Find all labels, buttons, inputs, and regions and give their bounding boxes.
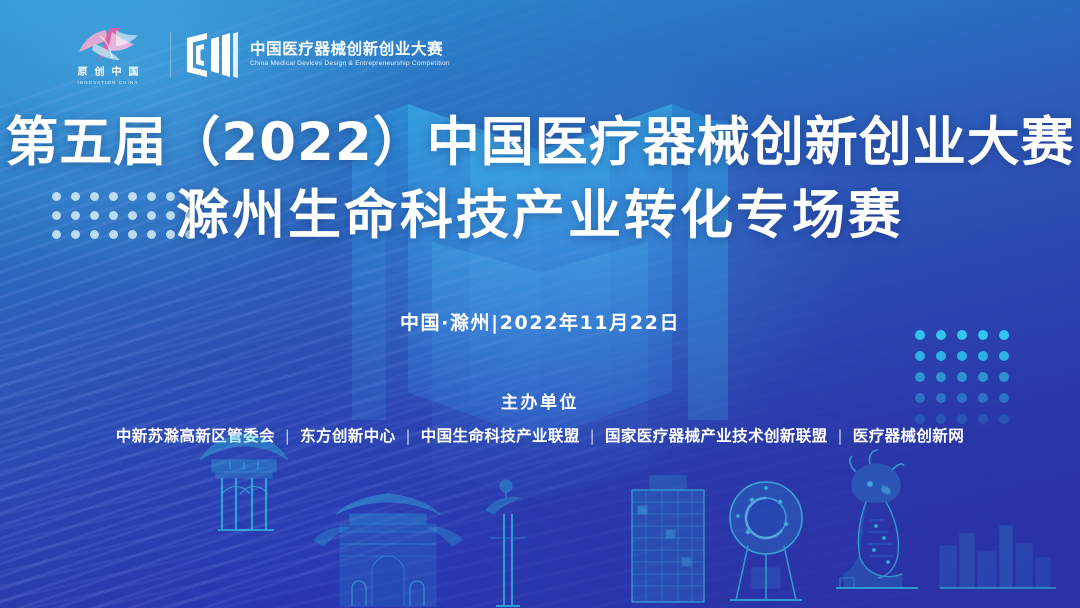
host-separator-1: | [401,427,415,445]
host-separator-3: | [833,427,847,445]
dot-grid-right [915,330,1020,435]
open-door-book-icon [185,30,239,80]
open-door-panels-graphic [0,0,1080,608]
city-skyline-illustration [0,428,1080,608]
city-buildings-icon [940,526,1056,588]
ring-sculpture-monument-icon [730,482,802,600]
host-separator-2: | [586,427,600,445]
main-title-block: 第五届（2022）中国医疗器械创新创业大赛 滁州生命科技产业转化专场赛 [0,112,1080,247]
host-item-4: 医疗器械创新网 [853,427,964,445]
innovation-char-0: 原 [78,68,88,78]
page-title-line1: 第五届（2022）中国医疗器械创新创业大赛 [0,112,1080,173]
innovation-bird-ribbon-icon [72,24,144,66]
background-glow-bottom [0,308,780,608]
host-item-0: 中新苏滁高新区管委会 [116,427,275,445]
competition-logo-cn: 中国医疗器械创新创业大赛 [250,41,450,58]
merlion-statue-icon [836,450,918,588]
event-poster: 原 创 中 国 INNOVATION CHINA [0,0,1080,608]
host-separator-0: | [281,427,295,445]
competition-logo: 中国医疗器械创新创业大赛 China Medical Devices Desig… [185,30,450,80]
logo-divider [170,32,171,78]
innovation-char-1: 创 [95,68,105,78]
header-logos: 原 创 中 国 INNOVATION CHINA [60,24,450,85]
light-streaks-primary [0,0,988,608]
host-item-1: 东方创新中心 [300,427,395,445]
innovation-logo-cn-chars: 原 创 中 国 [78,68,139,78]
modern-office-tower-icon [632,476,704,602]
host-item-3: 国家医疗器械产业技术创新联盟 [605,427,828,445]
background-glow-center [300,40,860,480]
host-item-2: 中国生命科技产业联盟 [421,427,580,445]
event-date-location: 中国·滁州|2022年11月22日 [0,308,1080,335]
chinese-street-lamp-icon [486,480,526,606]
innovation-char-2: 中 [112,68,122,78]
host-section-label: 主办单位 [0,388,1080,413]
chinese-gate-tower-icon [314,494,462,606]
chinese-pavilion-icon [200,434,288,530]
competition-logo-en: China Medical Devices Design & Entrepren… [250,60,450,67]
competition-logo-text: 中国医疗器械创新创业大赛 China Medical Devices Desig… [250,41,450,67]
innovation-char-3: 国 [129,68,139,78]
innovation-china-logo: 原 创 中 国 INNOVATION CHINA [60,24,156,85]
innovation-logo-en-text: INNOVATION CHINA [77,80,138,85]
host-organization-list: 中新苏滁高新区管委会 | 东方创新中心 | 中国生命科技产业联盟 | 国家医疗器… [0,424,1080,446]
page-title-line2: 滁州生命科技产业转化专场赛 [0,185,1080,246]
